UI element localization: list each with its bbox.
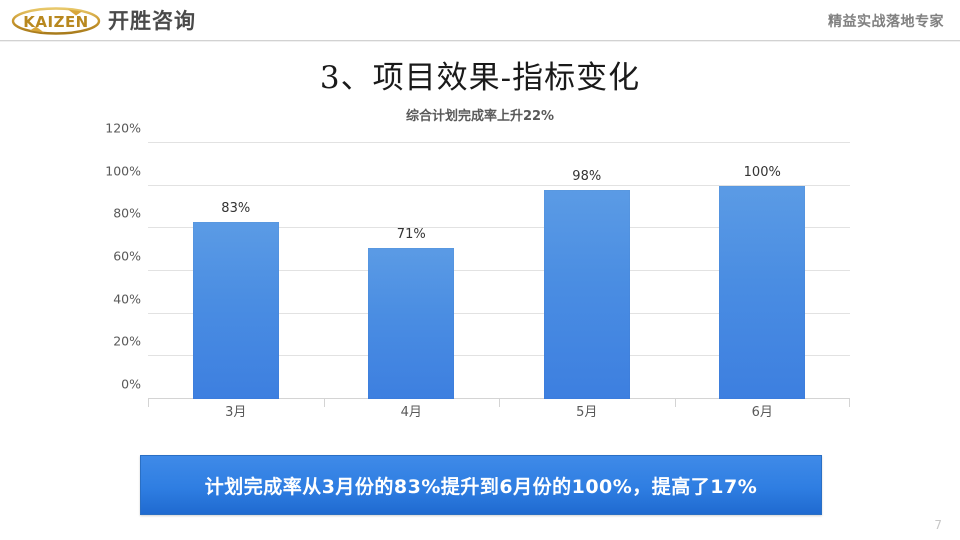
y-axis-tick-label: 120% bbox=[105, 121, 141, 136]
chart-title: 综合计划完成率上升22% bbox=[110, 105, 850, 124]
slide-header: KAIZEN 开胜咨询 精益实战落地专家 bbox=[0, 0, 960, 41]
bar-slot: 83% bbox=[148, 143, 324, 399]
bar bbox=[719, 186, 805, 399]
chart-plot-area: 0%20%40%60%80%100%120% 83%71%98%100% bbox=[148, 143, 850, 399]
bar-slot: 98% bbox=[499, 143, 675, 399]
svg-text:KAIZEN: KAIZEN bbox=[23, 13, 89, 31]
bar-value-label: 83% bbox=[221, 201, 250, 216]
y-axis-tick-label: 0% bbox=[121, 377, 141, 392]
callout-banner: 计划完成率从3月份的83%提升到6月份的100%，提高了17% bbox=[140, 455, 822, 515]
header-divider bbox=[0, 40, 960, 42]
bar bbox=[368, 248, 454, 399]
bar-value-label: 100% bbox=[744, 165, 781, 180]
y-axis-tick-label: 40% bbox=[113, 291, 141, 306]
x-axis-category-label: 4月 bbox=[324, 399, 500, 429]
bar-value-label: 71% bbox=[397, 227, 426, 242]
header-tagline: 精益实战落地专家 bbox=[828, 11, 944, 31]
x-axis-category-label: 6月 bbox=[675, 399, 851, 429]
chart-x-axis: 3月4月5月6月 bbox=[148, 399, 850, 429]
x-axis-category-label: 5月 bbox=[499, 399, 675, 429]
bar bbox=[544, 190, 630, 399]
x-axis-category-label: 3月 bbox=[148, 399, 324, 429]
y-axis-tick-label: 20% bbox=[113, 334, 141, 349]
brand-logo: KAIZEN 开胜咨询 bbox=[10, 4, 270, 38]
y-axis-tick-label: 100% bbox=[105, 163, 141, 178]
bar-slot: 100% bbox=[675, 143, 851, 399]
kaizen-ellipse-arrows-logo: KAIZEN bbox=[10, 5, 102, 37]
bar bbox=[193, 222, 279, 399]
callout-text: 计划完成率从3月份的83%提升到6月份的100%，提高了17% bbox=[205, 472, 758, 499]
y-axis-tick-label: 80% bbox=[113, 206, 141, 221]
bar-chart: 综合计划完成率上升22% 0%20%40%60%80%100%120% 83%7… bbox=[110, 105, 850, 430]
y-axis-tick-label: 60% bbox=[113, 249, 141, 264]
page-title: 3、项目效果-指标变化 bbox=[0, 52, 960, 97]
bar-value-label: 98% bbox=[572, 169, 601, 184]
page-number: 7 bbox=[934, 518, 942, 532]
company-name: 开胜咨询 bbox=[108, 5, 196, 37]
chart-bars: 83%71%98%100% bbox=[148, 143, 850, 399]
bar-slot: 71% bbox=[324, 143, 500, 399]
